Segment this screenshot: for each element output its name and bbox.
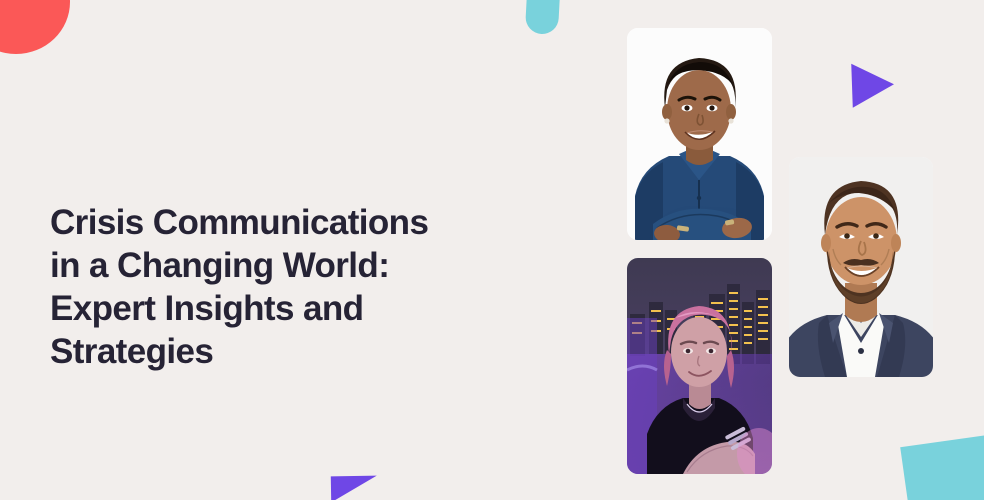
red-circle-decoration: [0, 0, 70, 54]
speaker-portrait-3-image: [789, 157, 933, 377]
slide-title: Crisis Communications in a Changing Worl…: [50, 201, 480, 373]
purple-triangle-right-decoration: [851, 62, 895, 107]
speaker-photo-card-2: [627, 258, 772, 474]
speaker-photo-card-3: [789, 157, 933, 377]
speaker-portrait-1-image: [627, 28, 772, 240]
teal-u-shape-decoration: [525, 0, 560, 35]
speaker-photo-card-1: [627, 28, 772, 240]
presentation-slide: Crisis Communications in a Changing Worl…: [0, 0, 984, 500]
teal-square-decoration: [900, 434, 984, 500]
purple-triangle-bottom-decoration: [331, 476, 377, 500]
speaker-portrait-2-image: [627, 258, 772, 474]
